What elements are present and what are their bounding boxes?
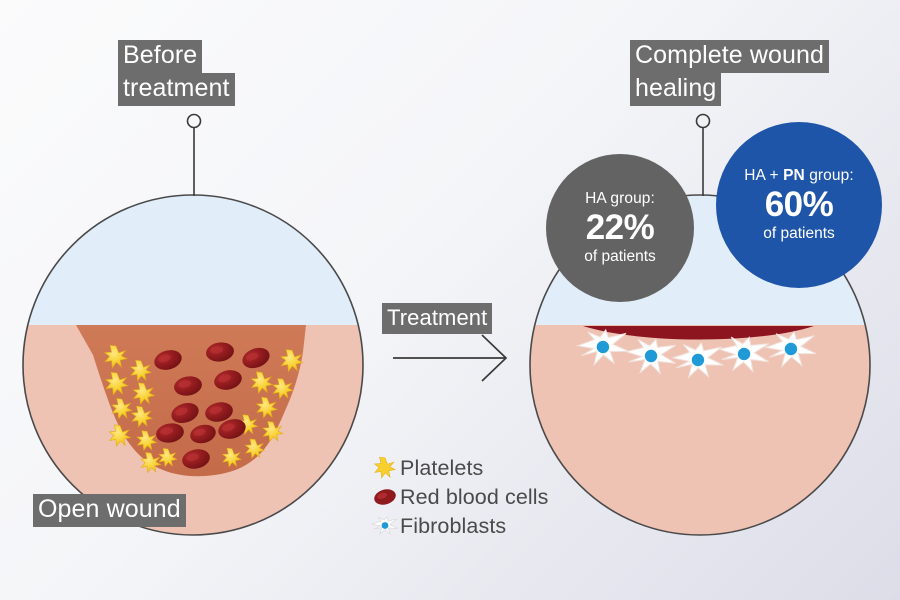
red-blood-cell-icon <box>370 484 400 510</box>
legend: Platelets Red blood cells Fibrob <box>370 455 549 539</box>
label-treatment-text: Treatment <box>382 303 492 334</box>
badge-ha-group[interactable]: HA group: 22% of patients <box>546 154 694 302</box>
badge-ha-pn-suffix-word: group: <box>805 167 854 184</box>
badge-ha-group-percent: 22% <box>586 209 655 247</box>
platelet-icon <box>370 455 400 481</box>
legend-label-platelets: Platelets <box>400 456 483 481</box>
label-open-wound-text: Open wound <box>33 494 186 527</box>
label-before-treatment-line1: Before <box>118 40 202 73</box>
left-skin-circle <box>20 190 370 540</box>
legend-item-platelets: Platelets <box>370 455 549 481</box>
label-complete-wound-healing-line1: Complete wound <box>630 40 829 73</box>
pointer-before-treatment <box>188 115 201 197</box>
legend-item-fibroblasts: Fibroblasts <box>370 513 549 539</box>
legend-label-red-blood-cells: Red blood cells <box>400 485 549 510</box>
legend-label-fibroblasts: Fibroblasts <box>400 514 506 539</box>
badge-ha-pn-group-title: HA + PN group: <box>744 167 854 185</box>
badge-ha-pn-group[interactable]: HA + PN group: 60% of patients <box>716 122 882 288</box>
treatment-arrow <box>393 335 506 381</box>
label-complete-wound-healing: Complete wound healing <box>630 40 829 106</box>
infographic-canvas: Before treatment Complete wound healing … <box>0 0 900 600</box>
legend-item-red-blood-cells: Red blood cells <box>370 484 549 510</box>
pointer-complete-healing <box>697 115 710 197</box>
badge-ha-group-title: HA group: <box>585 190 655 208</box>
label-before-treatment: Before treatment <box>118 40 235 106</box>
badge-ha-pn-prefix: HA + <box>744 167 783 184</box>
fibroblast-icon <box>370 513 400 539</box>
badge-ha-pn-group-suffix: of patients <box>763 225 835 243</box>
badge-ha-pn-group-percent: 60% <box>765 186 834 224</box>
label-treatment: Treatment <box>382 303 492 334</box>
label-complete-wound-healing-line2: healing <box>630 73 721 106</box>
label-before-treatment-line2: treatment <box>118 73 235 106</box>
badge-ha-pn-bold: PN <box>783 167 805 184</box>
label-open-wound: Open wound <box>33 494 186 527</box>
badge-ha-group-suffix: of patients <box>584 248 656 266</box>
